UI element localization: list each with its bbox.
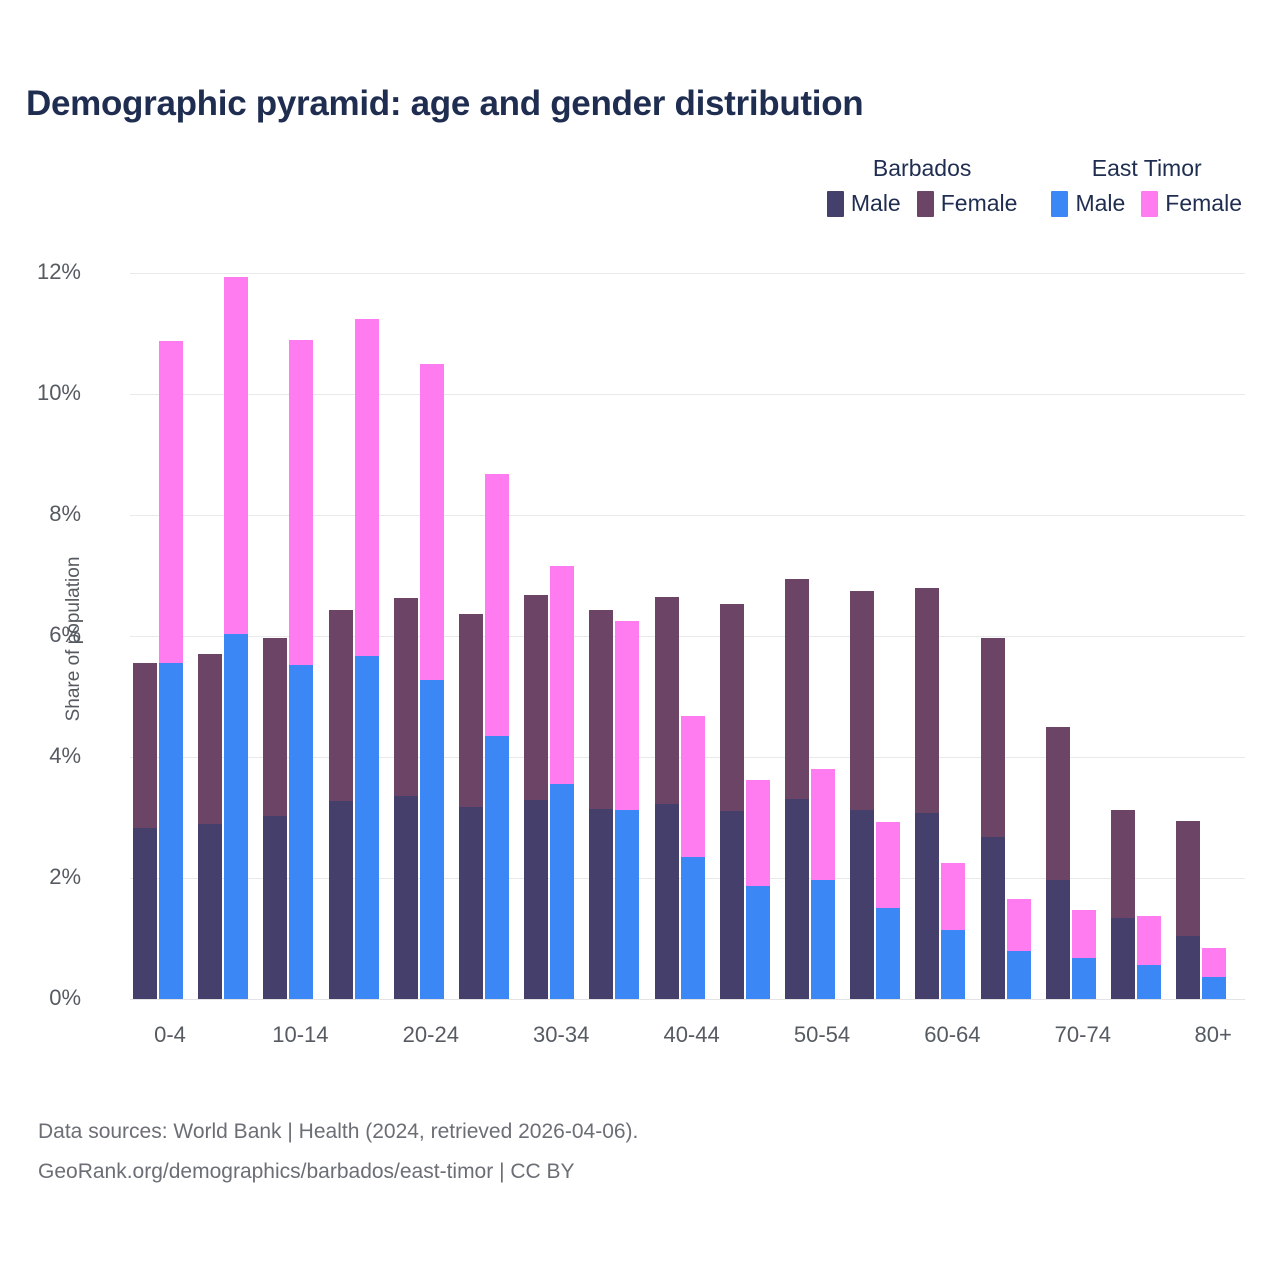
bar-segment-barbados-male	[1176, 936, 1200, 999]
x-axis-tick-label: 10-14	[240, 1022, 360, 1048]
bar-segment-east-timor-female	[1072, 910, 1096, 958]
bar-segment-east-timor-male	[420, 680, 444, 999]
bar-barbados-25-29[interactable]	[459, 273, 483, 999]
bar-segment-east-timor-female	[941, 863, 965, 930]
bar-segment-east-timor-female	[485, 474, 509, 737]
bar-segment-east-timor-female	[615, 621, 639, 810]
bar-east-timor-20-24[interactable]	[420, 273, 444, 999]
bar-barbados-65-69[interactable]	[981, 273, 1005, 999]
bars-layer: 0-410-1420-2430-3440-4450-5460-6470-7480…	[0, 0, 1280, 1280]
x-axis-tick-label: 50-54	[762, 1022, 882, 1048]
bar-segment-east-timor-female	[355, 319, 379, 656]
bar-segment-barbados-male	[524, 800, 548, 999]
bar-barbados-30-34[interactable]	[524, 273, 548, 999]
bar-segment-barbados-male	[133, 828, 157, 999]
bar-segment-barbados-female	[1176, 821, 1200, 937]
bar-segment-east-timor-male	[746, 886, 770, 999]
bar-segment-east-timor-male	[550, 784, 574, 999]
bar-barbados-55-59[interactable]	[850, 273, 874, 999]
bar-segment-barbados-female	[524, 595, 548, 799]
bar-segment-east-timor-male	[485, 736, 509, 999]
bar-segment-east-timor-male	[1137, 965, 1161, 999]
bar-barbados-5-9[interactable]	[198, 273, 222, 999]
bar-segment-barbados-male	[263, 816, 287, 999]
bar-segment-east-timor-male	[811, 880, 835, 999]
x-axis-tick-label: 60-64	[892, 1022, 1012, 1048]
bar-segment-barbados-female	[850, 591, 874, 811]
bar-segment-barbados-female	[981, 638, 1005, 837]
bar-segment-east-timor-female	[811, 769, 835, 880]
bar-segment-barbados-female	[915, 588, 939, 812]
bar-barbados-10-14[interactable]	[263, 273, 287, 999]
bar-barbados-80+[interactable]	[1176, 273, 1200, 999]
bar-segment-barbados-male	[329, 801, 353, 999]
bar-segment-east-timor-male	[681, 857, 705, 999]
bar-east-timor-40-44[interactable]	[681, 273, 705, 999]
bar-segment-barbados-male	[589, 809, 613, 999]
bar-barbados-0-4[interactable]	[133, 273, 157, 999]
bar-east-timor-75-79[interactable]	[1137, 273, 1161, 999]
x-axis-tick-label: 40-44	[632, 1022, 752, 1048]
bar-segment-barbados-female	[720, 604, 744, 811]
chart-page: Demographic pyramid: age and gender dist…	[0, 0, 1280, 1280]
footer-credits: Data sources: World Bank | Health (2024,…	[38, 1112, 638, 1192]
bar-segment-barbados-female	[329, 610, 353, 801]
bar-east-timor-10-14[interactable]	[289, 273, 313, 999]
bar-east-timor-30-34[interactable]	[550, 273, 574, 999]
bar-segment-barbados-female	[589, 610, 613, 809]
bar-segment-barbados-male	[850, 810, 874, 999]
bar-segment-east-timor-male	[289, 665, 313, 999]
bar-east-timor-45-49[interactable]	[746, 273, 770, 999]
bar-segment-east-timor-male	[615, 810, 639, 999]
bar-segment-barbados-male	[1111, 918, 1135, 999]
bar-segment-east-timor-female	[876, 822, 900, 907]
x-axis-tick-label: 80+	[1153, 1022, 1273, 1048]
bar-segment-east-timor-male	[224, 634, 248, 999]
bar-barbados-45-49[interactable]	[720, 273, 744, 999]
bar-segment-barbados-male	[655, 804, 679, 999]
bar-east-timor-35-39[interactable]	[615, 273, 639, 999]
bar-east-timor-15-19[interactable]	[355, 273, 379, 999]
bar-segment-barbados-male	[459, 807, 483, 999]
bar-east-timor-50-54[interactable]	[811, 273, 835, 999]
bar-segment-barbados-female	[263, 638, 287, 816]
bar-segment-barbados-male	[1046, 880, 1070, 999]
bar-segment-east-timor-female	[550, 566, 574, 784]
bar-segment-east-timor-male	[355, 656, 379, 999]
bar-segment-barbados-male	[394, 796, 418, 999]
bar-barbados-35-39[interactable]	[589, 273, 613, 999]
bar-segment-barbados-male	[981, 837, 1005, 999]
bar-east-timor-5-9[interactable]	[224, 273, 248, 999]
bar-segment-east-timor-female	[224, 277, 248, 634]
bar-east-timor-65-69[interactable]	[1007, 273, 1031, 999]
bar-segment-east-timor-female	[420, 364, 444, 680]
bar-barbados-60-64[interactable]	[915, 273, 939, 999]
x-axis-tick-label: 0-4	[110, 1022, 230, 1048]
bar-east-timor-0-4[interactable]	[159, 273, 183, 999]
bar-segment-barbados-female	[133, 663, 157, 828]
bar-east-timor-55-59[interactable]	[876, 273, 900, 999]
bar-east-timor-25-29[interactable]	[485, 273, 509, 999]
bar-segment-barbados-female	[1046, 727, 1070, 880]
x-axis-tick-label: 20-24	[371, 1022, 491, 1048]
bar-segment-east-timor-female	[1137, 916, 1161, 965]
bar-east-timor-70-74[interactable]	[1072, 273, 1096, 999]
bar-segment-barbados-male	[198, 824, 222, 999]
bar-segment-east-timor-female	[746, 780, 770, 886]
footer-line-license: GeoRank.org/demographics/barbados/east-t…	[38, 1152, 638, 1192]
bar-segment-barbados-female	[785, 579, 809, 799]
bar-segment-east-timor-male	[1072, 958, 1096, 999]
x-axis-tick-label: 30-34	[501, 1022, 621, 1048]
bar-segment-barbados-male	[720, 811, 744, 999]
bar-barbados-20-24[interactable]	[394, 273, 418, 999]
bar-segment-barbados-male	[915, 813, 939, 999]
bar-east-timor-60-64[interactable]	[941, 273, 965, 999]
bar-barbados-50-54[interactable]	[785, 273, 809, 999]
bar-barbados-15-19[interactable]	[329, 273, 353, 999]
bar-segment-barbados-male	[785, 799, 809, 999]
bar-segment-east-timor-male	[1202, 977, 1226, 999]
bar-east-timor-80+[interactable]	[1202, 273, 1226, 999]
bar-segment-barbados-female	[655, 597, 679, 805]
plot-area: Share of population 0%2%4%6%8%10%12% 0-4…	[0, 0, 1280, 1280]
bar-barbados-40-44[interactable]	[655, 273, 679, 999]
bar-barbados-75-79[interactable]	[1111, 273, 1135, 999]
bar-segment-east-timor-male	[941, 930, 965, 999]
x-axis-tick-label: 70-74	[1023, 1022, 1143, 1048]
bar-segment-east-timor-male	[1007, 951, 1031, 999]
bar-segment-east-timor-female	[289, 340, 313, 665]
bar-segment-barbados-female	[198, 654, 222, 825]
bar-segment-east-timor-female	[1007, 899, 1031, 950]
bar-segment-east-timor-female	[1202, 948, 1226, 976]
bar-segment-east-timor-male	[876, 908, 900, 999]
bar-segment-barbados-female	[459, 614, 483, 806]
bar-segment-east-timor-female	[681, 716, 705, 857]
bar-segment-barbados-female	[394, 598, 418, 796]
bar-segment-barbados-female	[1111, 810, 1135, 918]
footer-line-sources: Data sources: World Bank | Health (2024,…	[38, 1112, 638, 1152]
bar-barbados-70-74[interactable]	[1046, 273, 1070, 999]
bar-segment-east-timor-male	[159, 663, 183, 999]
bar-segment-east-timor-female	[159, 341, 183, 663]
